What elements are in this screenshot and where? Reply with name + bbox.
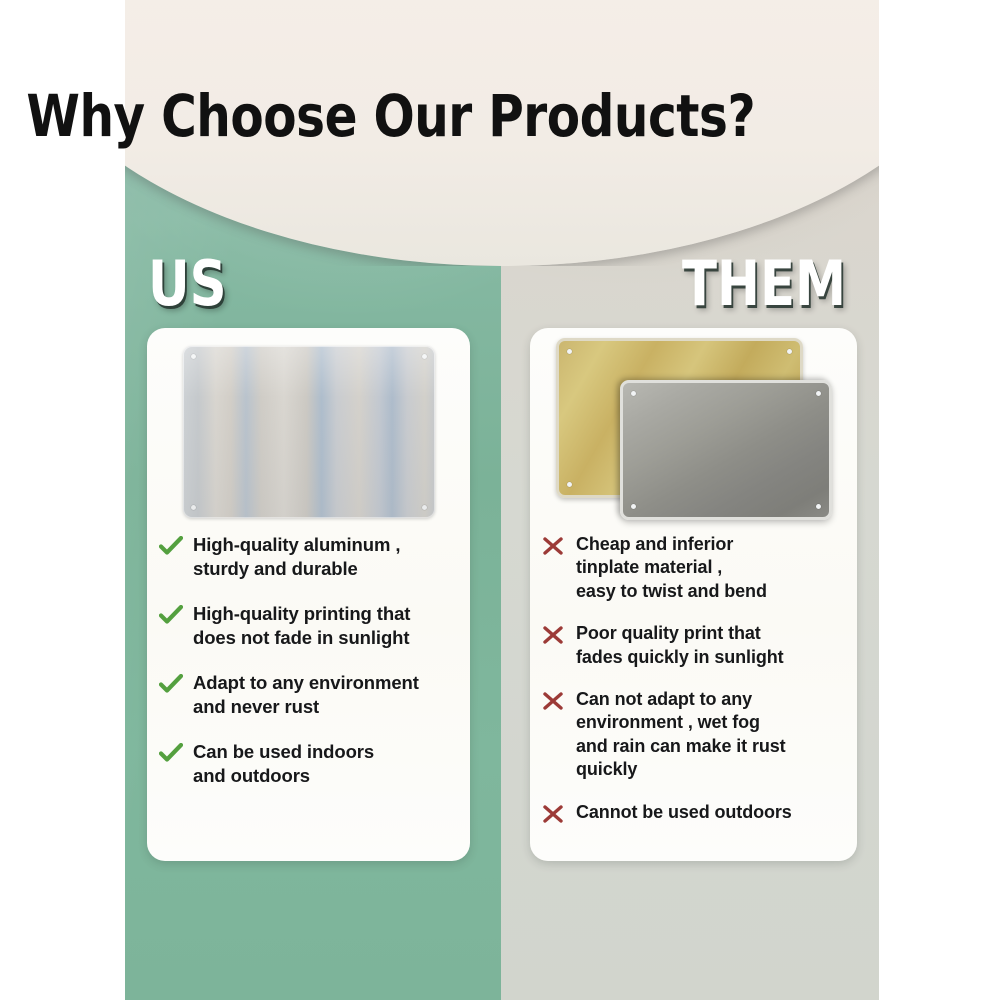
green-check-icon [159, 740, 193, 763]
grey-tinplate [620, 380, 832, 520]
list-item-label: High-quality printing that does not fade… [193, 602, 456, 650]
list-item: High-quality aluminum , sturdy and durab… [159, 533, 456, 581]
them-drawback-list: Cheap and inferior tinplate material , e… [530, 523, 857, 824]
us-product-image [147, 328, 470, 523]
screw-hole-icon [787, 349, 792, 354]
us-card: High-quality aluminum , sturdy and durab… [147, 328, 470, 861]
screw-hole-icon [631, 504, 636, 509]
list-item: Can not adapt to any environment , wet f… [542, 688, 843, 782]
list-item: Cannot be used outdoors [542, 801, 843, 824]
list-item-label: Adapt to any environment and never rust [193, 671, 456, 719]
list-item-label: Can be used indoors and outdoors [193, 740, 456, 788]
screw-hole-icon [567, 482, 572, 487]
green-check-icon [159, 602, 193, 625]
screw-hole-icon [422, 505, 427, 510]
red-cross-icon [542, 622, 576, 645]
list-item: Cheap and inferior tinplate material , e… [542, 533, 843, 603]
screw-hole-icon [816, 504, 821, 509]
red-cross-icon [542, 801, 576, 824]
list-item-label: Cheap and inferior tinplate material , e… [576, 533, 843, 603]
page-title: Why Choose Our Products? [26, 82, 727, 150]
us-column-heading: US [148, 247, 227, 320]
list-item-label: Cannot be used outdoors [576, 801, 843, 824]
list-item-label: High-quality aluminum , sturdy and durab… [193, 533, 456, 581]
red-cross-icon [542, 688, 576, 711]
green-check-icon [159, 533, 193, 556]
screw-hole-icon [816, 391, 821, 396]
list-item: Adapt to any environment and never rust [159, 671, 456, 719]
list-item-label: Poor quality print that fades quickly in… [576, 622, 843, 669]
them-column-heading: THEM [682, 247, 846, 320]
comparison-poster: Why Choose Our Products? US THEM High-qu… [0, 0, 1000, 1000]
them-card: Cheap and inferior tinplate material , e… [530, 328, 857, 861]
us-benefit-list: High-quality aluminum , sturdy and durab… [147, 523, 470, 788]
list-item-label: Can not adapt to any environment , wet f… [576, 688, 843, 782]
aluminum-plate [183, 346, 435, 518]
list-item: Can be used indoors and outdoors [159, 740, 456, 788]
red-cross-icon [542, 533, 576, 556]
screw-hole-icon [422, 354, 427, 359]
list-item: Poor quality print that fades quickly in… [542, 622, 843, 669]
screw-hole-icon [191, 505, 196, 510]
screw-hole-icon [191, 354, 196, 359]
them-product-image [530, 328, 857, 523]
screw-hole-icon [567, 349, 572, 354]
screw-hole-icon [631, 391, 636, 396]
list-item: High-quality printing that does not fade… [159, 602, 456, 650]
green-check-icon [159, 671, 193, 694]
